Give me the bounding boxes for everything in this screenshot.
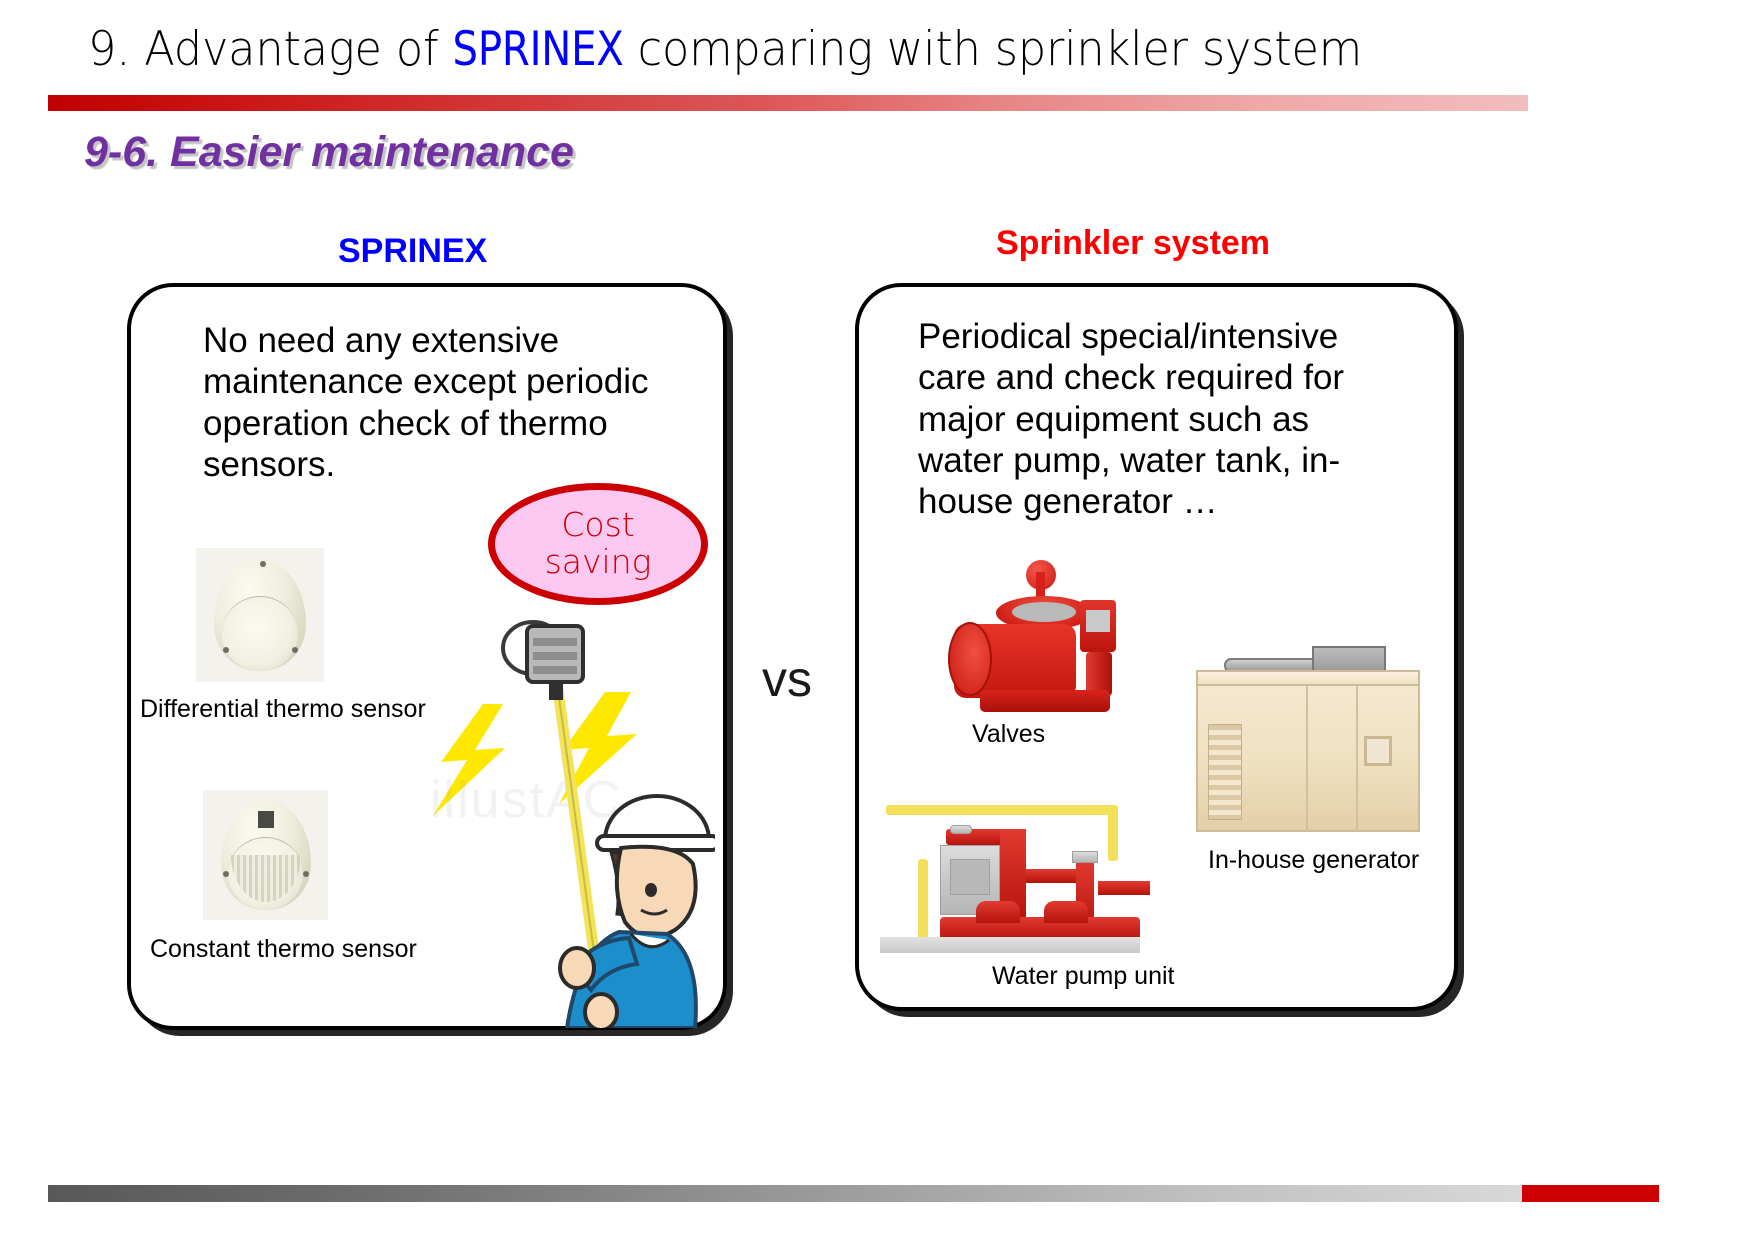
generator-vent-louvers-shape — [1208, 724, 1242, 820]
page-title-suffix: comparing with sprinkler system — [624, 22, 1363, 77]
pump-branch-pipe-shape — [1098, 881, 1150, 895]
sensor-screw-icon — [303, 871, 309, 877]
valves-image — [940, 560, 1130, 720]
caption-constant-thermo-sensor: Constant thermo sensor — [150, 935, 417, 964]
pump-supply-pipe-shape — [886, 805, 1118, 815]
pump-flange-shape — [1072, 851, 1098, 863]
title-divider-rule-accent — [48, 95, 738, 111]
page-title: 9. Advantage of SPRINEX comparing with s… — [88, 22, 1362, 77]
generator-door-seam — [1356, 686, 1358, 832]
column-heading-sprinkler: Sprinkler system — [996, 224, 1270, 263]
pump-floor-slab-shape — [880, 937, 1140, 953]
caption-valves: Valves — [972, 720, 1045, 749]
panel-sprinkler-body: Periodical special/intensive care and ch… — [918, 316, 1398, 522]
page-title-brand: SPRINEX — [453, 22, 624, 77]
generator-door-seam — [1306, 686, 1308, 832]
constant-thermo-sensor-image — [203, 790, 328, 920]
pump-casing-shape — [1044, 901, 1088, 923]
pump-riser-pipe-shape — [1108, 805, 1118, 861]
pump-cap-shape — [950, 825, 972, 834]
panel-sprinex-body: No need any extensive maintenance except… — [203, 320, 703, 485]
in-house-generator-image — [1196, 640, 1426, 840]
pump-panel-screen-shape — [950, 859, 990, 895]
pump-casing-shape — [976, 901, 1020, 923]
caption-in-house-generator: In-house generator — [1208, 846, 1419, 875]
sensor-chip-detail — [258, 811, 274, 828]
cost-saving-line-1: Cost — [561, 507, 634, 544]
sensor-face-shape — [222, 596, 299, 671]
column-heading-sprinex: SPRINEX — [338, 232, 487, 271]
caption-water-pump-unit: Water pump unit — [992, 962, 1174, 991]
water-pump-unit-image — [880, 785, 1170, 960]
valve-gauge-window-shape — [1086, 610, 1110, 632]
sensor-screw-icon — [223, 647, 229, 653]
section-subtitle: 9-6. Easier maintenance — [84, 128, 574, 177]
footer-gradient-bar — [48, 1185, 1522, 1202]
valve-endcap-shape — [948, 622, 992, 696]
maintenance-worker-illustration — [455, 608, 715, 1028]
cost-saving-line-2: saving — [545, 544, 652, 581]
valve-flange-inner-shape — [1012, 602, 1076, 622]
versus-label: vs — [762, 650, 812, 708]
generator-panel-window-shape — [1364, 736, 1392, 766]
sensor-screw-icon — [223, 871, 229, 877]
differential-thermo-sensor-image — [196, 548, 324, 682]
page-title-prefix: 9. Advantage of — [88, 22, 453, 77]
valve-base-shape — [980, 690, 1110, 712]
slide: 9. Advantage of SPRINEX comparing with s… — [0, 0, 1755, 1240]
footer-accent-bar — [1522, 1185, 1659, 1202]
cost-saving-badge: Cost saving — [488, 483, 708, 605]
caption-differential-thermo-sensor: Differential thermo sensor — [140, 695, 426, 724]
